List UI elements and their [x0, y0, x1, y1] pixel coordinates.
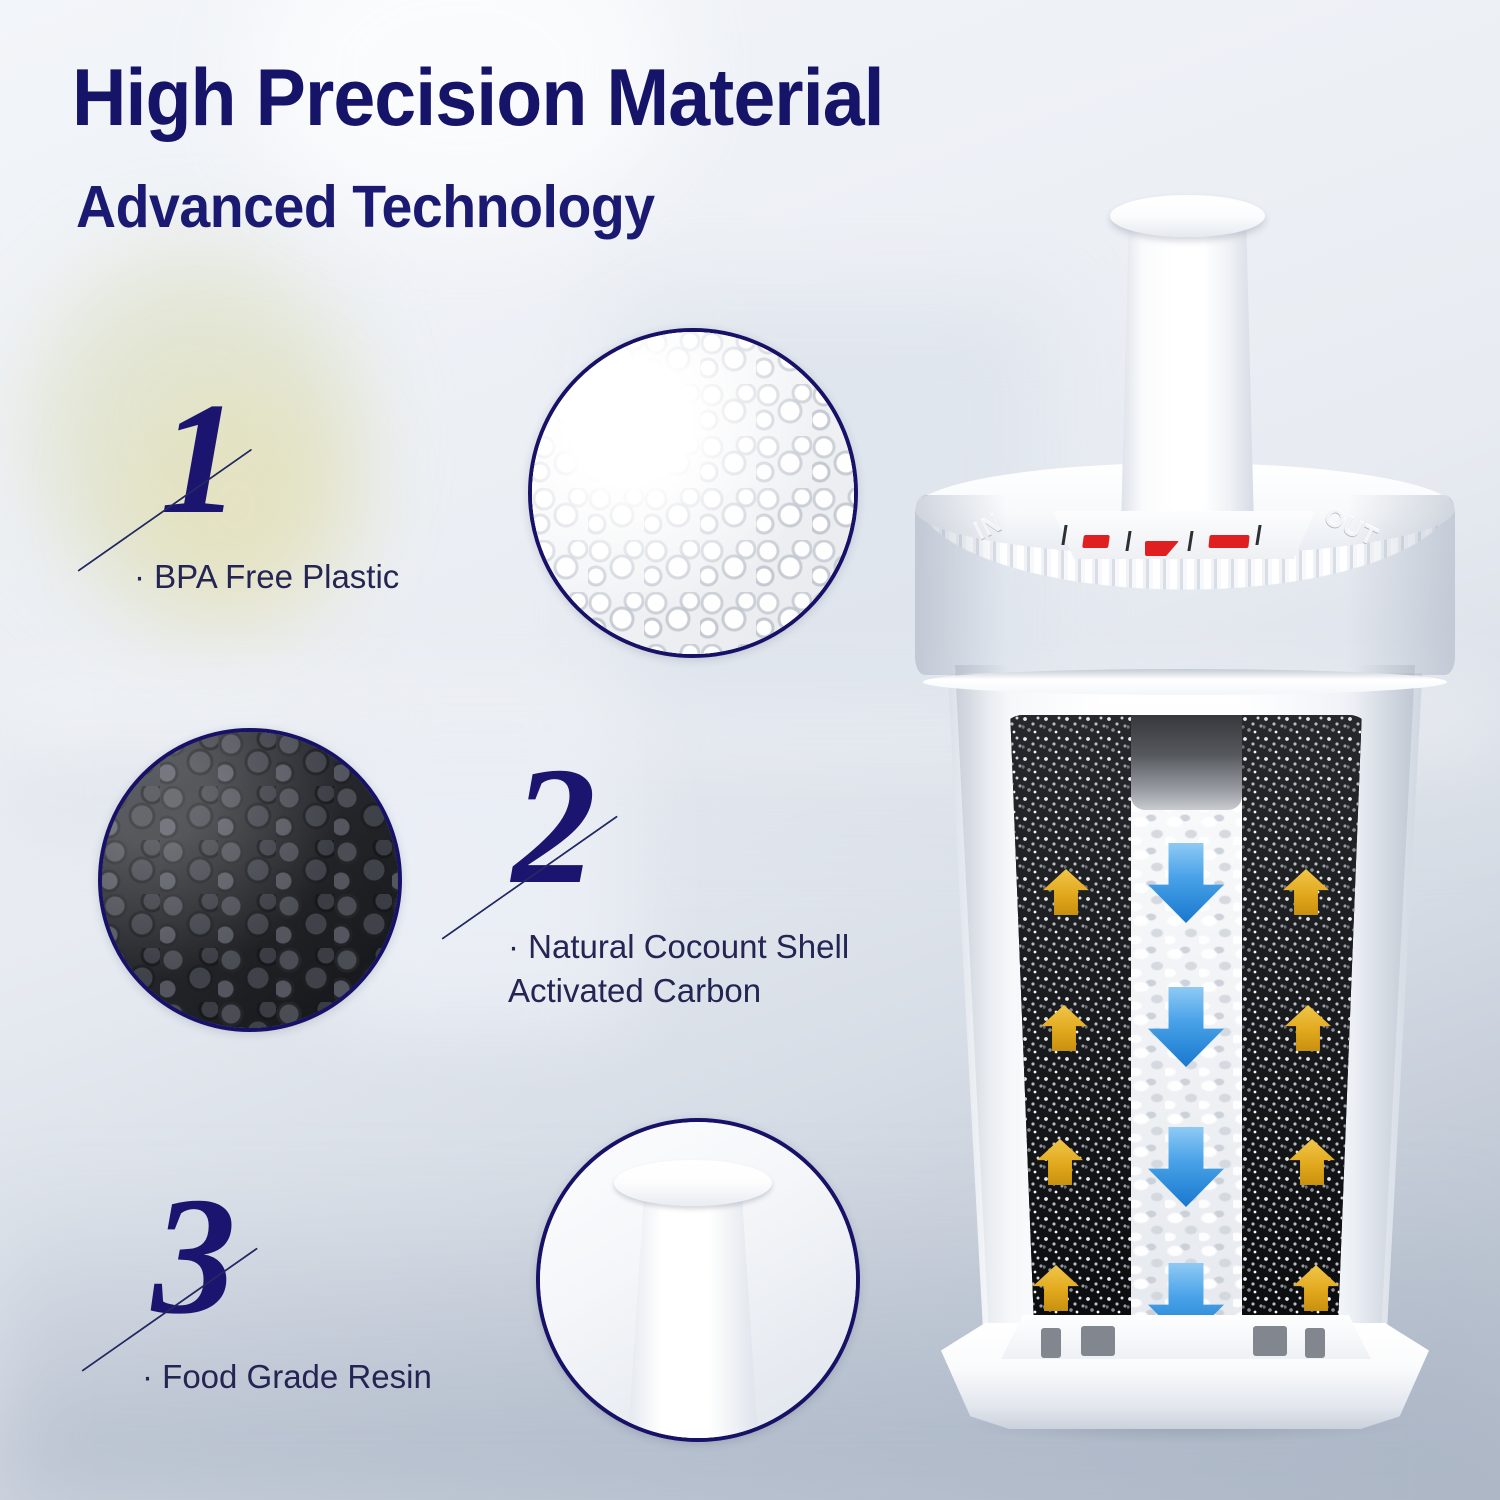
feature-number-1: 1 [160, 378, 240, 538]
filter-spout [1121, 213, 1254, 528]
resin-stem-cap [614, 1160, 772, 1206]
infographic-canvas: High Precision Material Advanced Technol… [0, 0, 1500, 1500]
filter-spout-cap [1110, 195, 1265, 237]
water-filter-cartridge: IN OUT [905, 195, 1465, 1445]
feature-label-3: · Food Grade Resin [142, 1355, 432, 1399]
feature-number-2: 2 [512, 742, 596, 910]
feature-sample-circle-3 [536, 1118, 860, 1442]
feature-label-1: · BPA Free Plastic [134, 555, 399, 599]
feature-sample-circle-1 [528, 328, 858, 658]
resin-core-cap [1131, 715, 1242, 810]
activated-carbon-pellets-icon [102, 732, 398, 1028]
base-vent-slot [1081, 1326, 1115, 1356]
feature-sample-circle-2 [98, 728, 402, 1032]
clear-plastic-beads-icon [532, 332, 854, 654]
base-vent-slot [1041, 1328, 1061, 1358]
feature-label-2: · Natural Cocount Shell Activated Carbon [508, 925, 849, 1012]
food-grade-resin-icon [540, 1122, 856, 1438]
filter-collar-seam [923, 669, 1447, 695]
dial-marker-3 [1208, 535, 1249, 548]
base-vent-slot [1253, 1326, 1287, 1356]
base-vent-slot [1305, 1328, 1325, 1358]
page-title: High Precision Material [72, 58, 884, 139]
filter-cutaway-window [1001, 715, 1371, 1333]
feature-number-3: 3 [152, 1172, 236, 1340]
page-subtitle: Advanced Technology [76, 178, 655, 237]
resin-stem-body [628, 1182, 758, 1438]
dial-marker-1 [1082, 535, 1110, 548]
